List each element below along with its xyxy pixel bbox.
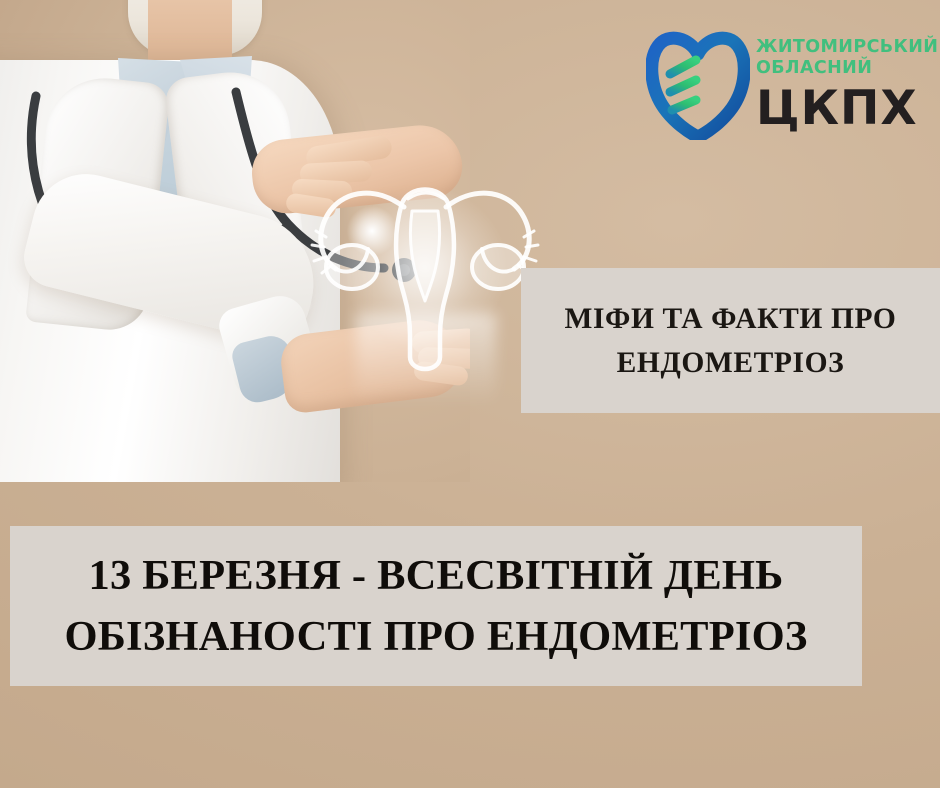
headline-text: 13 БЕРЕЗНЯ - ВСЕСВІТНІЙ ДЕНЬ ОБІЗНАНОСТІ… [28, 545, 844, 667]
headline-panel: 13 БЕРЕЗНЯ - ВСЕСВІТНІЙ ДЕНЬ ОБІЗНАНОСТІ… [10, 526, 862, 686]
logo-text-block: ЖИТОМИРСЬКИЙ ОБЛАСНИЙ ЦКПХ [756, 28, 936, 135]
logo-abbreviation: ЦКПХ [756, 83, 936, 135]
doctor-photo [0, 0, 470, 482]
poster-canvas: ЖИТОМИРСЬКИЙ ОБЛАСНИЙ ЦКПХ МІФИ ТА ФАКТИ… [0, 0, 940, 788]
shield-heart-logo-icon [646, 30, 750, 140]
logo-line-1: ЖИТОМИРСЬКИЙ [756, 37, 936, 58]
subtitle-panel: МІФИ ТА ФАКТИ ПРО ЕНДОМЕТРІОЗ [521, 268, 940, 413]
organization-logo[interactable]: ЖИТОМИРСЬКИЙ ОБЛАСНИЙ ЦКПХ [646, 28, 936, 146]
logo-line-2: ОБЛАСНИЙ [756, 58, 936, 79]
subtitle-text: МІФИ ТА ФАКТИ ПРО ЕНДОМЕТРІОЗ [555, 297, 907, 385]
